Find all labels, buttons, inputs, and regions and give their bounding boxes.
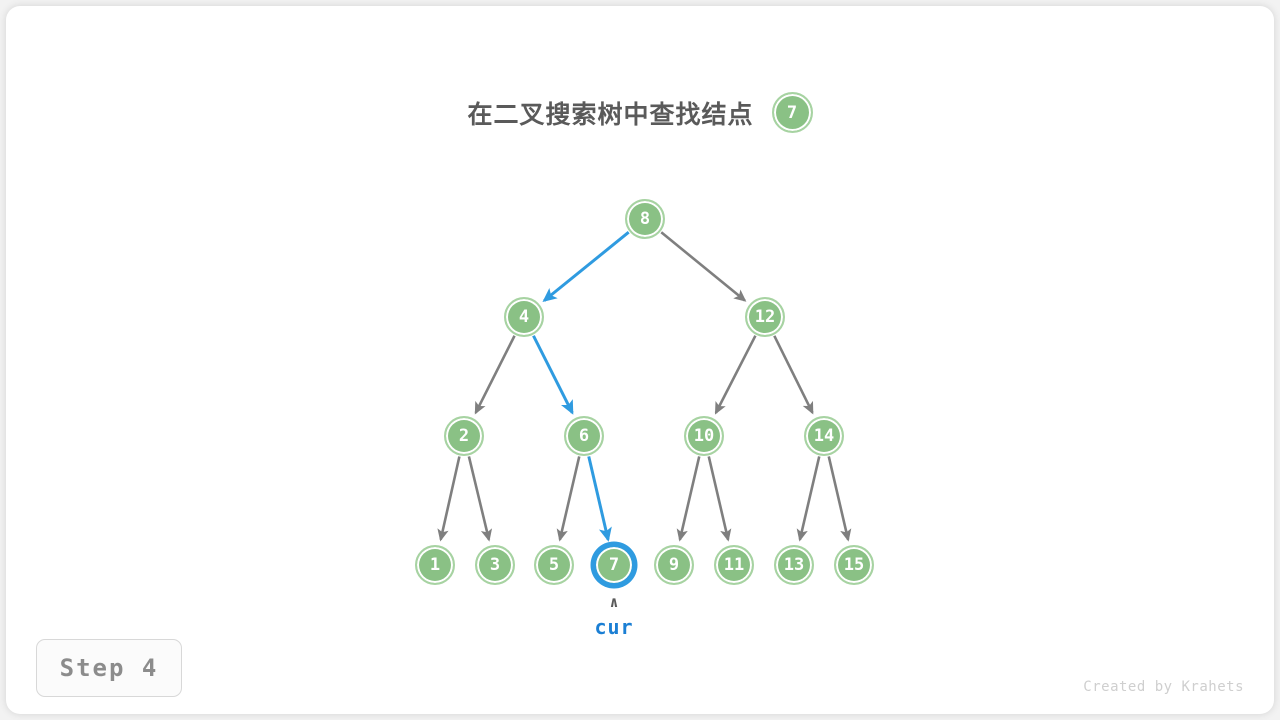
tree-edge [829, 456, 848, 539]
target-value-badge: 7 [772, 92, 813, 133]
tree-edge [800, 456, 819, 539]
tree-node-14[interactable]: 14 [804, 416, 844, 456]
tree-edge [661, 232, 745, 300]
tree-edge [560, 456, 579, 539]
tree-edge [441, 456, 460, 539]
tree-node-6[interactable]: 6 [564, 416, 604, 456]
tree-node-13[interactable]: 13 [774, 545, 814, 585]
cur-pointer-group: ∧ cur [574, 595, 654, 637]
tree-edge [716, 336, 756, 413]
tree-node-2[interactable]: 2 [444, 416, 484, 456]
tree-node-11[interactable]: 11 [714, 545, 754, 585]
tree-node-8[interactable]: 8 [625, 199, 665, 239]
tree-edge [476, 336, 515, 413]
page-title: 在二叉搜索树中查找结点 [467, 95, 753, 131]
caret-up-icon: ∧ [609, 595, 618, 610]
cur-pointer-label: cur [594, 617, 633, 637]
step-label: Step 4 [60, 654, 159, 682]
tree-node-9[interactable]: 9 [654, 545, 694, 585]
tree-edge [469, 456, 489, 539]
step-badge: Step 4 [36, 639, 182, 697]
tree-node-5[interactable]: 5 [534, 545, 574, 585]
tree-edge [544, 232, 628, 300]
tree-node-12[interactable]: 12 [745, 297, 785, 337]
diagram-card: 在二叉搜索树中查找结点 7 841226101413579111315 ∧ cu… [6, 6, 1274, 714]
tree-node-3[interactable]: 3 [475, 545, 515, 585]
tree-edge [774, 336, 812, 413]
tree-edge [709, 456, 728, 539]
tree-edge [589, 456, 608, 539]
tree-node-4[interactable]: 4 [504, 297, 544, 337]
screenshot-stage: 在二叉搜索树中查找结点 7 841226101413579111315 ∧ cu… [0, 0, 1280, 720]
tree-edge [680, 456, 699, 539]
tree-node-15[interactable]: 15 [834, 545, 874, 585]
tree-edge [533, 336, 572, 413]
credit-text: Created by Krahets [1083, 679, 1244, 695]
tree-node-7[interactable]: 7 [594, 545, 634, 585]
tree-node-10[interactable]: 10 [684, 416, 724, 456]
tree-node-1[interactable]: 1 [415, 545, 455, 585]
diagram-title-row: 在二叉搜索树中查找结点 7 [6, 92, 1274, 133]
